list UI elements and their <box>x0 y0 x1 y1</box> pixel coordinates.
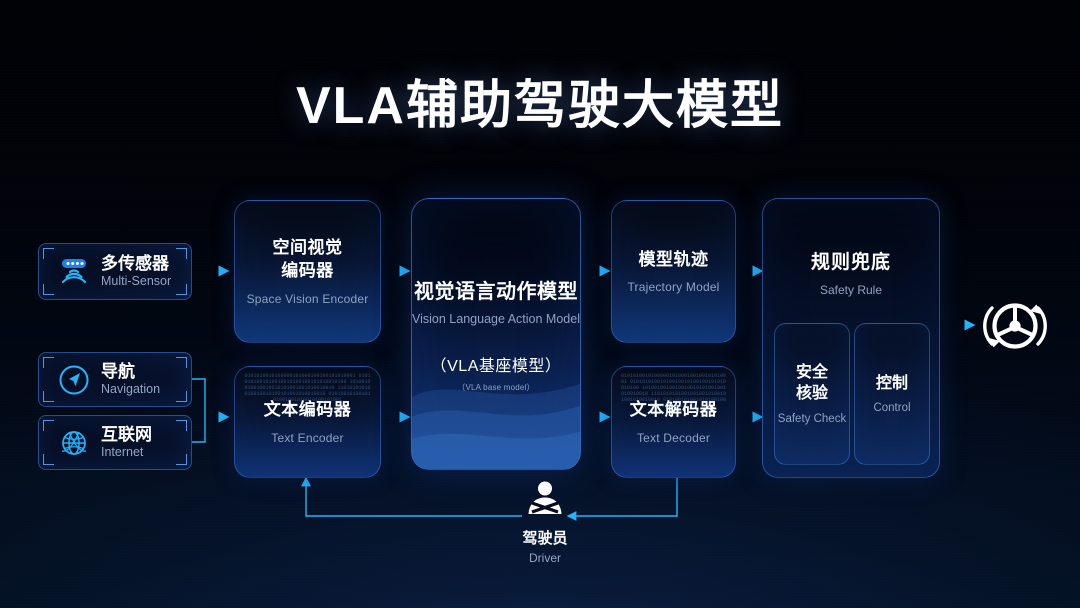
input-label-en: Multi-Sensor <box>101 273 171 289</box>
safety-rule-label-en: Safety Rule <box>763 283 939 297</box>
corner-bracket <box>43 391 54 402</box>
vla-subtitle-zh: （VLA基座模型） <box>431 352 562 376</box>
module-safety-check[interactable]: 安全核验 Safety Check <box>774 323 850 465</box>
module-label-en: Text Decoder <box>637 431 710 445</box>
globe-icon <box>47 427 101 459</box>
corner-bracket <box>176 454 187 465</box>
input-label-zh: 多传感器 <box>101 254 171 274</box>
control-label-en: Control <box>873 402 910 414</box>
safety-rule-header: 规则兜底 Safety Rule <box>763 247 939 297</box>
input-card-multi-sensor[interactable]: 多传感器 Multi-Sensor <box>38 243 192 300</box>
safety-rule-label-zh: 规则兜底 <box>763 247 939 274</box>
driver-person-icon <box>523 478 567 522</box>
safety-check-label-zh: 安全核验 <box>796 363 828 405</box>
module-safety-rule[interactable]: 规则兜底 Safety Rule 安全核验 Safety Check 控制 Co… <box>762 198 940 478</box>
corner-bracket <box>43 454 54 465</box>
module-label-zh: 模型轨迹 <box>639 249 709 272</box>
module-text-decoder[interactable]: 0101010010100000101000100100101010001 01… <box>611 366 736 478</box>
module-label-zh: 空间视觉编码器 <box>273 237 343 283</box>
corner-bracket <box>43 248 54 259</box>
module-label-en: Space Vision Encoder <box>247 292 369 306</box>
vla-subtitle-en: （VLA base model） <box>457 382 534 393</box>
module-label-zh: 文本解码器 <box>630 399 718 422</box>
corner-bracket <box>43 284 54 295</box>
module-trajectory-model[interactable]: 模型轨迹 Trajectory Model <box>611 200 736 343</box>
module-vla-base-model[interactable]: 视觉语言动作模型 Vision Language Action Model （V… <box>411 198 581 470</box>
corner-bracket <box>43 420 54 431</box>
input-card-internet[interactable]: 互联网 Internet <box>38 415 192 470</box>
input-label-zh: 导航 <box>101 362 160 382</box>
input-label-zh: 互联网 <box>101 425 152 445</box>
module-text-encoder[interactable]: 0101010010100000101000100100101010001 01… <box>234 366 381 478</box>
corner-bracket <box>176 420 187 431</box>
driver-label-zh: 驾驶员 <box>495 527 595 548</box>
driver-node[interactable]: 驾驶员 Driver <box>495 478 595 565</box>
corner-bracket <box>176 248 187 259</box>
corner-bracket <box>176 391 187 402</box>
module-label-zh: 文本编码器 <box>264 399 352 422</box>
corner-bracket <box>176 284 187 295</box>
steering-wheel-node <box>973 288 1057 364</box>
vla-title-en: Vision Language Action Model <box>412 312 580 326</box>
page-title: VLA辅助驾驶大模型 <box>0 63 1080 138</box>
module-control[interactable]: 控制 Control <box>854 323 930 465</box>
input-label-en: Navigation <box>101 381 160 397</box>
control-label-zh: 控制 <box>876 374 908 395</box>
input-label-en: Internet <box>101 444 152 460</box>
steering-wheel-icon <box>973 288 1057 364</box>
module-space-vision-encoder[interactable]: 空间视觉编码器 Space Vision Encoder <box>234 200 381 343</box>
corner-bracket <box>43 357 54 368</box>
radar-sensor-icon <box>47 257 101 287</box>
navigation-compass-icon <box>47 364 101 396</box>
driver-label-en: Driver <box>495 551 595 565</box>
module-label-en: Trajectory Model <box>627 280 719 294</box>
input-card-navigation[interactable]: 导航 Navigation <box>38 352 192 407</box>
corner-bracket <box>176 357 187 368</box>
vla-title-zh: 视觉语言动作模型 <box>414 275 578 304</box>
module-label-en: Text Encoder <box>271 431 343 445</box>
safety-check-label-en: Safety Check <box>778 413 846 425</box>
